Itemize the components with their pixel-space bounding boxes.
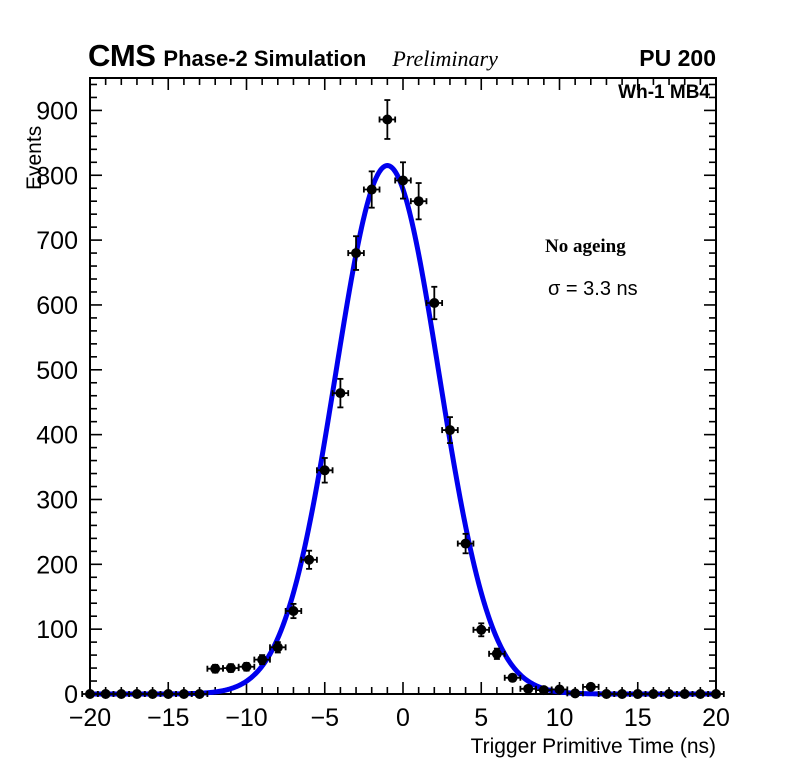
cms-header: CMS Phase-2 Simulation Preliminary PU 20… xyxy=(88,40,716,72)
data-point xyxy=(661,689,677,699)
cms-subtitle: Phase-2 Simulation xyxy=(163,48,366,70)
data-point xyxy=(145,689,161,699)
data-point xyxy=(113,689,129,699)
data-marker xyxy=(382,114,392,124)
y-tick-label: 200 xyxy=(36,551,78,579)
data-marker xyxy=(680,689,690,699)
data-marker xyxy=(539,685,549,695)
data-marker xyxy=(367,185,377,195)
data-marker xyxy=(445,425,455,435)
data-marker xyxy=(398,175,408,185)
data-point xyxy=(239,662,255,672)
data-point xyxy=(630,689,646,699)
data-marker xyxy=(617,689,627,699)
data-marker xyxy=(273,642,283,652)
data-marker xyxy=(288,606,298,616)
data-marker xyxy=(492,649,502,659)
data-point xyxy=(646,689,662,699)
data-marker xyxy=(664,689,674,699)
data-marker xyxy=(711,689,721,699)
data-marker xyxy=(116,689,126,699)
y-tick-label: 700 xyxy=(36,227,78,255)
data-point xyxy=(677,689,693,699)
ageing-annotation: No ageing xyxy=(545,236,626,258)
data-point xyxy=(693,689,709,699)
data-marker xyxy=(461,539,471,549)
data-marker xyxy=(257,655,267,665)
y-tick-label: 300 xyxy=(36,486,78,514)
data-marker xyxy=(351,248,361,258)
sigma-annotation: σ = 3.3 ns xyxy=(548,278,638,301)
data-series xyxy=(82,100,724,699)
data-marker xyxy=(695,689,705,699)
x-tick-label: 15 xyxy=(624,704,652,732)
data-marker xyxy=(195,689,205,699)
x-tick-label: 20 xyxy=(702,704,730,732)
data-marker xyxy=(586,682,596,692)
cms-status-preliminary: Preliminary xyxy=(392,48,498,70)
x-tick-label: 10 xyxy=(546,704,574,732)
data-point xyxy=(599,689,615,699)
data-marker xyxy=(570,688,580,698)
chart-svg: −20−15−10−505101520010020030040050060070… xyxy=(0,0,796,772)
chamber-label: Wh-1 MB4 xyxy=(618,82,710,104)
data-marker xyxy=(648,689,658,699)
data-marker xyxy=(242,662,252,672)
data-marker xyxy=(429,298,439,308)
data-point xyxy=(207,664,223,674)
x-tick-label: 5 xyxy=(474,704,488,732)
x-axis-title: Trigger Primitive Time (ns) xyxy=(0,735,716,759)
data-marker xyxy=(633,689,643,699)
data-point xyxy=(708,689,724,699)
x-tick-label: 0 xyxy=(396,704,410,732)
data-marker xyxy=(601,689,611,699)
data-marker xyxy=(210,664,220,674)
data-point xyxy=(176,689,192,699)
data-marker xyxy=(163,689,173,699)
data-marker xyxy=(414,196,424,206)
data-point xyxy=(567,688,583,698)
data-marker xyxy=(226,663,236,673)
data-point xyxy=(82,689,98,699)
y-tick-label: 400 xyxy=(36,422,78,450)
plot-canvas: CMS Phase-2 Simulation Preliminary PU 20… xyxy=(0,0,796,772)
data-point xyxy=(614,689,630,699)
data-marker xyxy=(320,465,330,475)
y-tick-label: 600 xyxy=(36,292,78,320)
x-tick-label: −15 xyxy=(147,704,189,732)
data-point xyxy=(395,162,411,198)
cms-logo: CMS xyxy=(88,40,155,71)
data-marker xyxy=(85,689,95,699)
y-axis-title: Events xyxy=(0,84,28,194)
data-marker xyxy=(304,555,314,565)
data-marker xyxy=(132,689,142,699)
y-tick-label: 0 xyxy=(64,681,78,709)
y-tick-label: 500 xyxy=(36,357,78,385)
data-marker xyxy=(101,689,111,699)
x-tick-label: −10 xyxy=(225,704,267,732)
data-point xyxy=(223,663,239,673)
x-tick-label: −5 xyxy=(310,704,339,732)
data-point xyxy=(411,183,427,219)
data-point xyxy=(129,689,145,699)
data-point xyxy=(473,623,489,636)
data-marker xyxy=(555,684,565,694)
data-point xyxy=(98,689,114,699)
data-point xyxy=(380,100,396,139)
data-marker xyxy=(335,388,345,398)
data-marker xyxy=(476,625,486,635)
data-marker xyxy=(179,689,189,699)
y-axis-title-text: Events xyxy=(23,126,47,190)
data-marker xyxy=(523,684,533,694)
data-point xyxy=(348,236,364,270)
y-tick-label: 100 xyxy=(36,616,78,644)
pileup-label: PU 200 xyxy=(639,47,716,70)
y-tick-label: 900 xyxy=(36,97,78,125)
data-marker xyxy=(508,673,518,683)
data-point xyxy=(160,689,176,699)
data-marker xyxy=(148,689,158,699)
data-point xyxy=(583,682,599,692)
